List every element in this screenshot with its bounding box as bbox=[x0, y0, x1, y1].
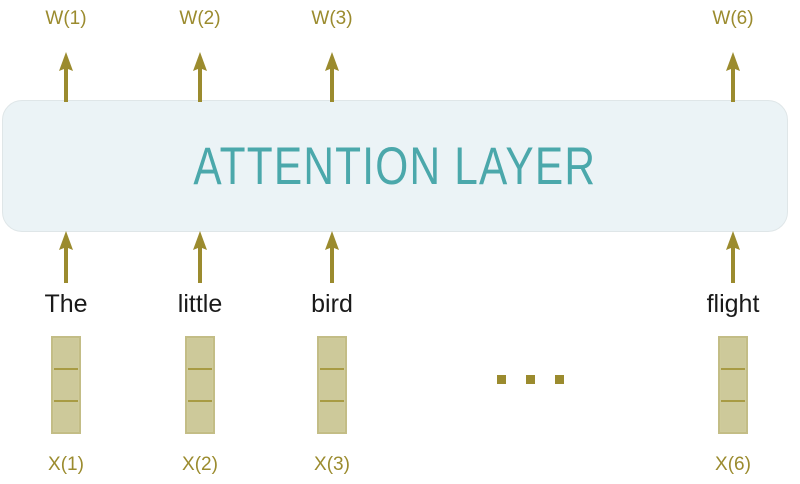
output-label: W(2) bbox=[130, 6, 270, 32]
input-vector bbox=[185, 336, 215, 434]
input-arrow-icon bbox=[187, 231, 213, 283]
input-arrow-icon bbox=[319, 231, 345, 283]
output-label: W(6) bbox=[663, 6, 800, 32]
output-arrow-icon bbox=[720, 52, 746, 102]
vector-cell bbox=[188, 370, 212, 401]
input-vector bbox=[317, 336, 347, 434]
output-label: W(1) bbox=[0, 6, 136, 32]
token-column: W(1) The X(1) bbox=[0, 0, 136, 484]
input-arrow-icon bbox=[53, 231, 79, 283]
vector-cell bbox=[188, 402, 212, 431]
input-label: X(2) bbox=[130, 452, 270, 478]
input-label: X(1) bbox=[0, 452, 136, 478]
vector-cell bbox=[54, 402, 78, 431]
word-token-label: little bbox=[130, 289, 270, 319]
token-column: W(6) flight X(6) bbox=[663, 0, 800, 484]
input-arrow-icon bbox=[720, 231, 746, 283]
vector-cell bbox=[54, 339, 78, 370]
ellipsis-dot bbox=[526, 375, 535, 384]
vector-cell bbox=[320, 370, 344, 401]
token-column: W(2) little X(2) bbox=[130, 0, 270, 484]
input-label: X(3) bbox=[262, 452, 402, 478]
vector-cell bbox=[188, 339, 212, 370]
vector-cell bbox=[721, 370, 745, 401]
output-arrow-icon bbox=[319, 52, 345, 102]
output-label: W(3) bbox=[262, 6, 402, 32]
diagram-canvas: ATTENTION LAYER W(1) The X(1) W(2) bbox=[0, 0, 800, 484]
vector-cell bbox=[721, 339, 745, 370]
output-arrow-icon bbox=[187, 52, 213, 102]
word-token-label: bird bbox=[262, 289, 402, 319]
vector-cell bbox=[320, 339, 344, 370]
output-arrow-icon bbox=[53, 52, 79, 102]
input-vector bbox=[51, 336, 81, 434]
word-token-label: The bbox=[0, 289, 136, 319]
ellipsis-indicator bbox=[497, 375, 567, 385]
vector-cell bbox=[320, 402, 344, 431]
ellipsis-dot bbox=[497, 375, 506, 384]
vector-cell bbox=[721, 402, 745, 431]
word-token-label: flight bbox=[663, 289, 800, 319]
token-column: W(3) bird X(3) bbox=[262, 0, 402, 484]
vector-cell bbox=[54, 370, 78, 401]
ellipsis-dot bbox=[555, 375, 564, 384]
input-label: X(6) bbox=[663, 452, 800, 478]
input-vector bbox=[718, 336, 748, 434]
